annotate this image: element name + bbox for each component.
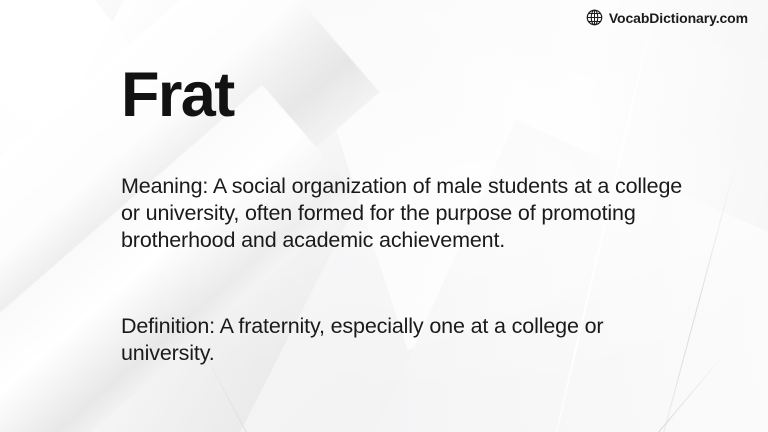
brand-name: VocabDictionary.com (609, 10, 748, 26)
definition-block: Definition: A fraternity, especially one… (121, 313, 666, 367)
globe-icon (586, 9, 603, 26)
card-content: Frat Meaning: A social organization of m… (121, 0, 701, 432)
meaning-block: Meaning: A social organization of male s… (121, 173, 687, 254)
brand-logo[interactable]: VocabDictionary.com (586, 9, 748, 26)
definition-text: Definition: A fraternity, especially one… (121, 313, 666, 367)
meaning-text: Meaning: A social organization of male s… (121, 173, 687, 254)
page-title: Frat (121, 64, 234, 127)
vocabulary-card: VocabDictionary.com Frat Meaning: A soci… (0, 0, 768, 432)
